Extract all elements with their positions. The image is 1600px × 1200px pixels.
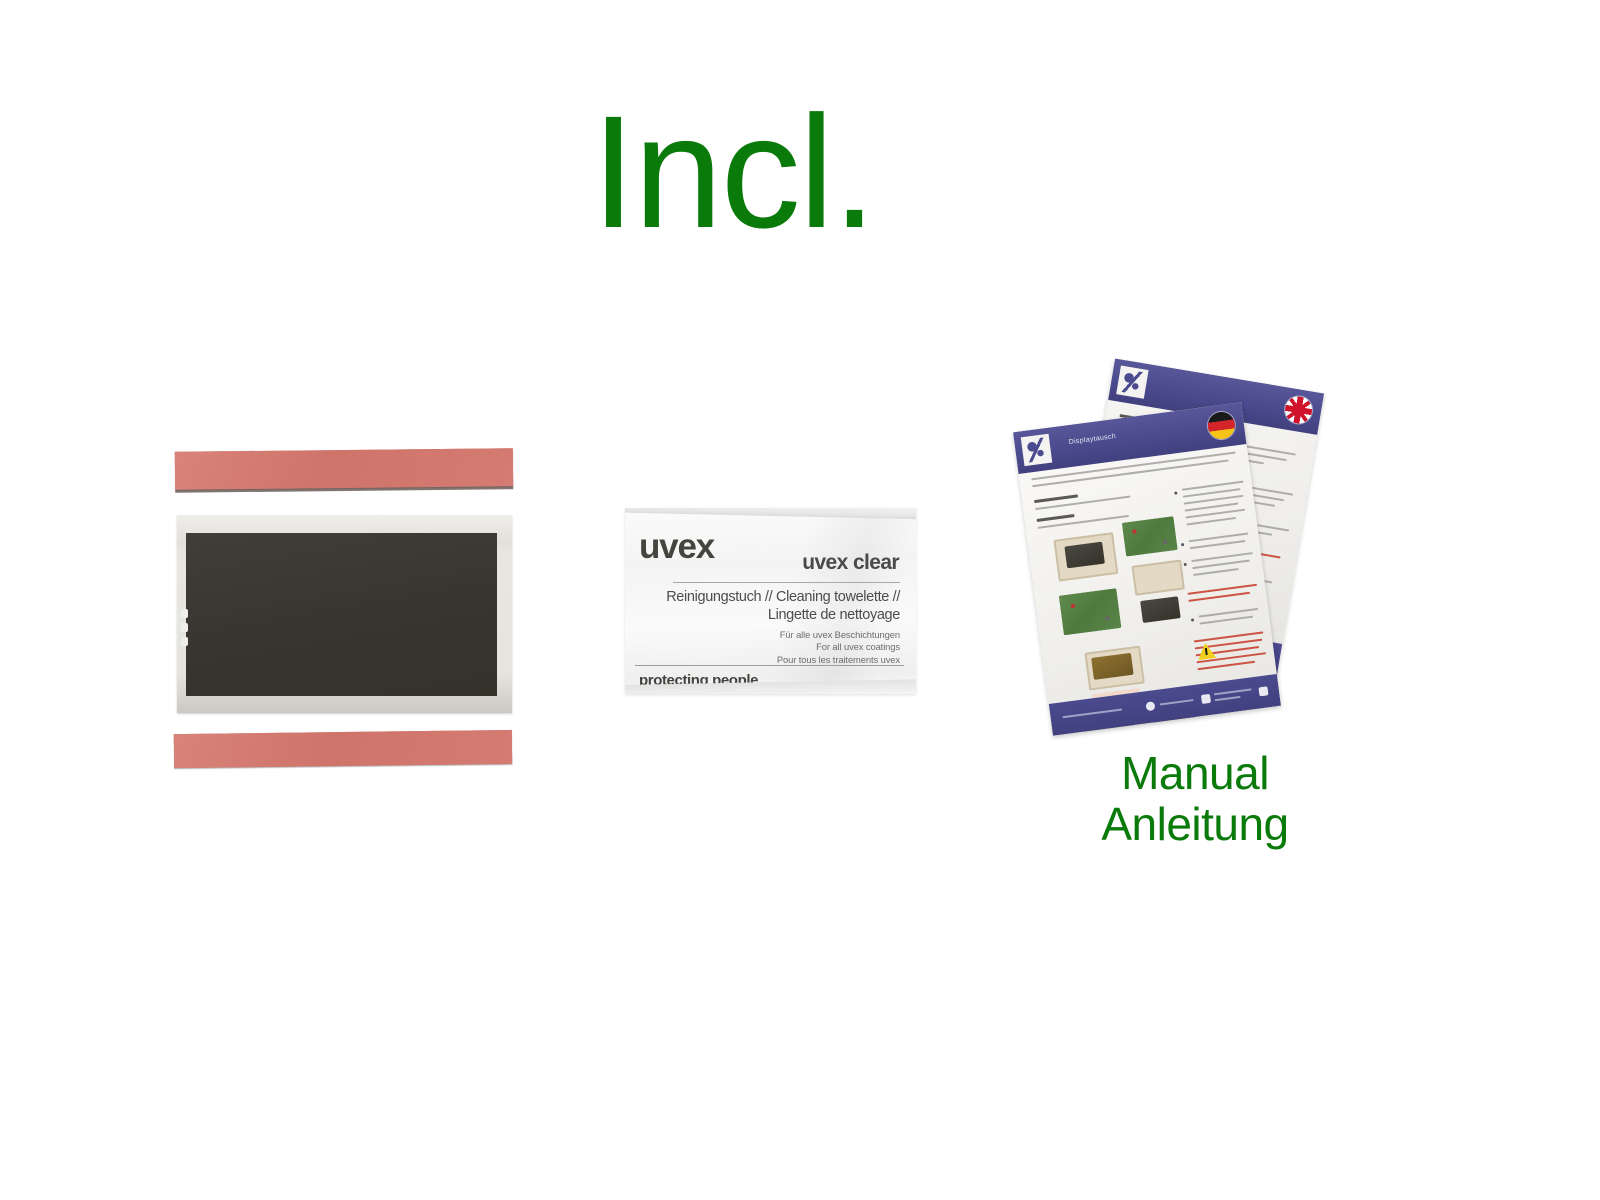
uvex-description-line-1: Reinigungstuch // Cleaning towelette // — [648, 588, 900, 606]
uvex-sub-description: Für alle uvex Beschichtungen For all uve… — [660, 629, 900, 666]
divider — [673, 582, 900, 583]
warning-triangle-icon — [1196, 642, 1216, 660]
gb-flag-icon — [1283, 394, 1314, 425]
uvex-description-line-2: Lingette de nettoyage — [648, 606, 900, 624]
figure-frame — [1131, 559, 1184, 595]
text-line — [1037, 514, 1075, 522]
instagram-icon — [1258, 686, 1268, 696]
uvex-sub-line-2: For all uvex coatings — [660, 641, 900, 653]
brand-logo-icon — [1021, 434, 1053, 466]
display-panel-assembly — [177, 515, 512, 713]
panel-notch-icon — [181, 623, 188, 632]
uvex-description: Reinigungstuch // Cleaning towelette // … — [648, 588, 900, 624]
uvex-towelette-sachet: uvex uvex clear Reinigungstuch // Cleani… — [625, 508, 916, 694]
figure-pcb — [1122, 516, 1178, 556]
sheet-body — [1018, 444, 1276, 704]
text-line — [1193, 568, 1239, 576]
manual-caption-line-2: Anleitung — [1000, 799, 1390, 850]
adhesive-strip-bottom — [174, 730, 512, 768]
brand-logo-glyph-icon — [1024, 437, 1049, 463]
manual-caption: Manual Anleitung — [1000, 748, 1390, 849]
bullet-icon — [1181, 543, 1184, 546]
brand-logo-icon — [1116, 366, 1148, 399]
divider — [635, 665, 904, 666]
text-line — [1212, 713, 1264, 722]
uvex-sub-line-1: Für alle uvex Beschichtungen — [660, 629, 900, 641]
text-line-warning — [1197, 661, 1255, 671]
uvex-product-name: uvex clear — [802, 552, 899, 573]
page-title: Incl. — [0, 92, 1600, 252]
panel-notch-icon — [181, 637, 188, 646]
uvex-tagline: protecting people — [639, 672, 758, 689]
text-line — [1199, 616, 1253, 625]
footer-text — [1215, 696, 1241, 701]
adhesive-strip-top — [175, 448, 513, 490]
manual-sheet-front: Displaytausch — [1013, 402, 1281, 735]
facebook-icon — [1201, 694, 1211, 704]
bullet-icon — [1184, 563, 1187, 566]
footer-text — [1063, 708, 1123, 717]
bullet-icon — [1191, 618, 1194, 621]
brand-logo-glyph-icon — [1120, 369, 1145, 395]
sheet-title: Displaytausch — [1068, 433, 1116, 446]
bullet-icon — [1204, 715, 1207, 718]
text-line — [1192, 560, 1250, 570]
display-panel-screen — [186, 533, 497, 696]
text-line — [1186, 517, 1236, 526]
bullet-icon — [1174, 491, 1177, 494]
display-protector-kit — [170, 445, 520, 765]
figure-screen — [1140, 596, 1181, 623]
text-line — [1190, 540, 1246, 549]
uvex-brand-logo: uvex — [639, 529, 714, 564]
manual-caption-line-1: Manual — [1000, 748, 1390, 799]
footer-url — [1160, 699, 1194, 705]
panel-notch-icon — [181, 609, 188, 618]
web-icon — [1145, 701, 1155, 711]
footer-text — [1214, 688, 1252, 695]
text-line — [1034, 494, 1078, 502]
figure-pcb — [1059, 588, 1122, 635]
de-flag-icon — [1206, 410, 1236, 440]
manual-sheets-group: Displaytausch — [1010, 368, 1310, 740]
